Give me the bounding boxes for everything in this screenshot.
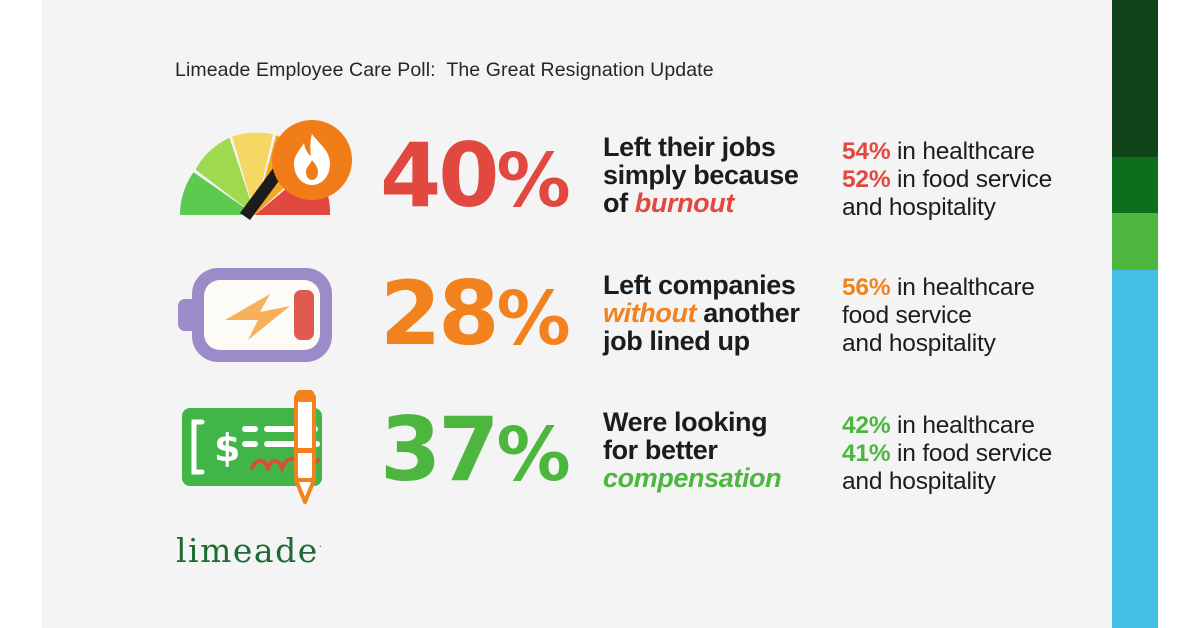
color-band-bright-green (1112, 213, 1158, 270)
svg-text:$: $ (214, 426, 240, 470)
color-bar (1112, 0, 1158, 628)
stat-breakdown: 42% in healthcare 41% in food service an… (842, 412, 1092, 496)
stat-description: Left their jobs simply because of burnou… (603, 133, 828, 217)
stat-row: $ 37% (42, 386, 1112, 526)
color-band-green (1112, 157, 1158, 213)
paycheck-pen-icon: $ (170, 386, 360, 516)
burnout-gauge-icon (170, 110, 360, 240)
color-band-cyan (1112, 270, 1158, 628)
low-battery-icon (170, 248, 360, 378)
stat-breakdown: 56% in healthcare food service and hospi… (842, 274, 1092, 358)
stat-breakdown: 54% in healthcare 52% in food service an… (842, 138, 1092, 222)
stat-row: 28% Left companies without another job l… (42, 248, 1112, 388)
stat-percent: 28% (380, 270, 580, 358)
page-title: Limeade Employee Care Poll: The Great Re… (175, 59, 714, 82)
color-band-dark-green (1112, 0, 1158, 157)
infographic-canvas: Limeade Employee Care Poll: The Great Re… (42, 0, 1112, 628)
stat-description: Left companies without another job lined… (603, 271, 828, 355)
stat-row: 40% Left their jobs simply because of bu… (42, 110, 1112, 250)
stat-percent: 37% (380, 406, 580, 494)
limeade-logo: limeade· (176, 531, 322, 570)
logo-text: limeade (176, 531, 319, 570)
logo-registered-mark: · (319, 542, 322, 553)
stat-description: Were looking for better compensation (603, 408, 828, 492)
stat-percent: 40% (380, 132, 580, 220)
